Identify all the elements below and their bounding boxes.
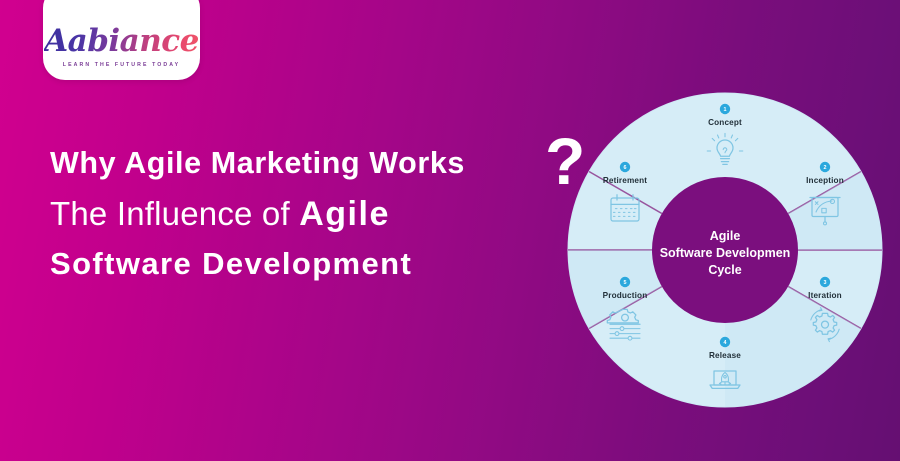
headline-block: Why Agile Marketing Works ? The Influenc… (50, 148, 570, 279)
headline-line-2: The Influence of Agile (50, 197, 570, 231)
brand-wordmark: Aabiance (44, 26, 199, 57)
segment-release-number: 4 (724, 340, 727, 346)
headline-line-3: Software Development (50, 248, 570, 279)
agile-cycle-diagram: Agile Software Developmen Cycle 1 Concep… (560, 85, 890, 415)
segment-production-number: 5 (624, 280, 627, 286)
segment-production-label: Production (603, 291, 648, 300)
headline-line-2-light: The Influence of (50, 195, 299, 232)
segment-retirement-number: 6 (624, 165, 627, 171)
segment-iteration-label: Iteration (808, 291, 842, 300)
headline-line-1: Why Agile Marketing Works ? (50, 148, 570, 179)
segment-release-label: Release (709, 351, 741, 360)
hub-line-1: Agile (710, 229, 741, 243)
segment-inception-label: Inception (806, 176, 844, 185)
promo-banner: Aabiance LEARN THE FUTURE TODAY Why Agil… (0, 0, 900, 461)
headline-line-2-bold: Agile (299, 195, 390, 233)
hub-line-2: Software Developmen (660, 246, 791, 260)
brand-tagline: LEARN THE FUTURE TODAY (63, 62, 180, 68)
segment-concept-number: 1 (724, 107, 727, 113)
segment-inception-number: 2 (824, 165, 827, 171)
headline-line-1-text: Why Agile Marketing Works (50, 146, 465, 180)
segment-retirement-label: Retirement (603, 176, 647, 185)
segment-concept-label: Concept (708, 118, 742, 127)
hub-line-3: Cycle (708, 263, 741, 277)
brand-logo-card[interactable]: Aabiance LEARN THE FUTURE TODAY (43, 0, 200, 80)
segment-iteration-number: 3 (824, 280, 827, 286)
